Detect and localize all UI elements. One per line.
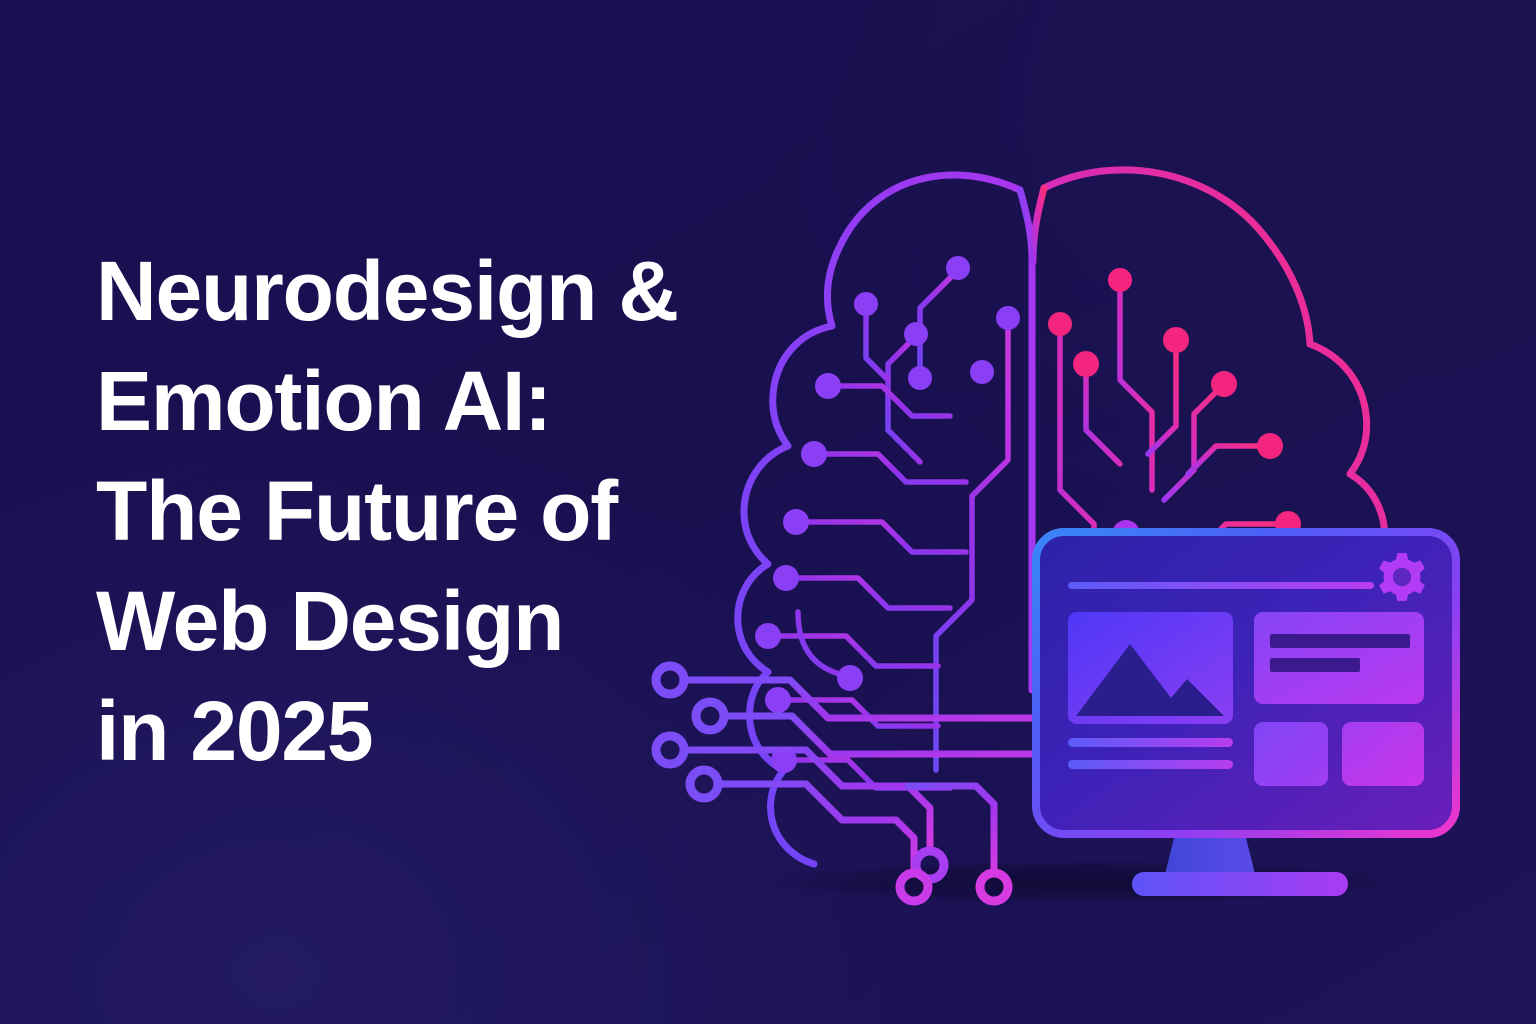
trace-l10	[770, 636, 938, 666]
trace-l1	[936, 320, 1008, 770]
hero-banner: Neurodesign & Emotion AI: The Future of …	[0, 0, 1536, 1024]
trace-l7	[816, 454, 966, 482]
text-card[interactable]	[1254, 612, 1424, 704]
web-design-monitor[interactable]	[1036, 532, 1456, 896]
trace-r5	[1164, 386, 1222, 500]
trace-c4	[720, 784, 914, 870]
text-line-2	[1068, 760, 1233, 769]
monitor-stand-base	[1132, 872, 1348, 896]
small-card-right[interactable]	[1342, 722, 1424, 786]
node	[755, 623, 781, 649]
node	[1211, 371, 1237, 397]
trace-l11	[798, 612, 848, 676]
node	[946, 256, 970, 280]
trace-l4	[866, 306, 888, 380]
node	[1108, 268, 1132, 292]
small-card-left[interactable]	[1254, 722, 1328, 786]
trace-l9	[788, 578, 950, 608]
node	[815, 373, 841, 399]
title-line-5: in 2025	[96, 676, 736, 786]
trace-l2	[920, 270, 958, 376]
text-line-1	[1068, 738, 1233, 747]
node	[904, 322, 928, 346]
trace-l8	[798, 522, 966, 552]
ai-brain-illustration	[620, 130, 1500, 920]
title-line-1: Neurodesign &	[96, 236, 736, 346]
image-placeholder[interactable]	[1068, 612, 1233, 724]
trace-r2	[1086, 366, 1120, 464]
monitor-header-bar	[1068, 582, 1374, 589]
trace-r6	[1188, 446, 1268, 474]
node	[970, 360, 994, 384]
node	[783, 509, 809, 535]
node	[765, 687, 791, 713]
node	[908, 366, 932, 390]
node	[996, 306, 1020, 330]
node	[1257, 433, 1283, 459]
title-line-4: Web Design	[96, 566, 736, 676]
brain-central-fissure	[1020, 190, 1032, 690]
node	[1073, 351, 1099, 377]
node	[773, 565, 799, 591]
node	[801, 441, 827, 467]
page-title: Neurodesign & Emotion AI: The Future of …	[96, 236, 736, 786]
brain-central-fissure-right	[1033, 188, 1044, 262]
trace-r3	[1120, 282, 1152, 490]
title-line-2: Emotion AI:	[96, 346, 736, 456]
node	[854, 292, 878, 316]
trace-l13	[780, 700, 938, 726]
node	[1163, 327, 1189, 353]
title-line-3: The Future of	[96, 456, 736, 566]
node	[1048, 312, 1072, 336]
brain-left-nodes	[755, 256, 1020, 773]
node	[837, 665, 863, 691]
